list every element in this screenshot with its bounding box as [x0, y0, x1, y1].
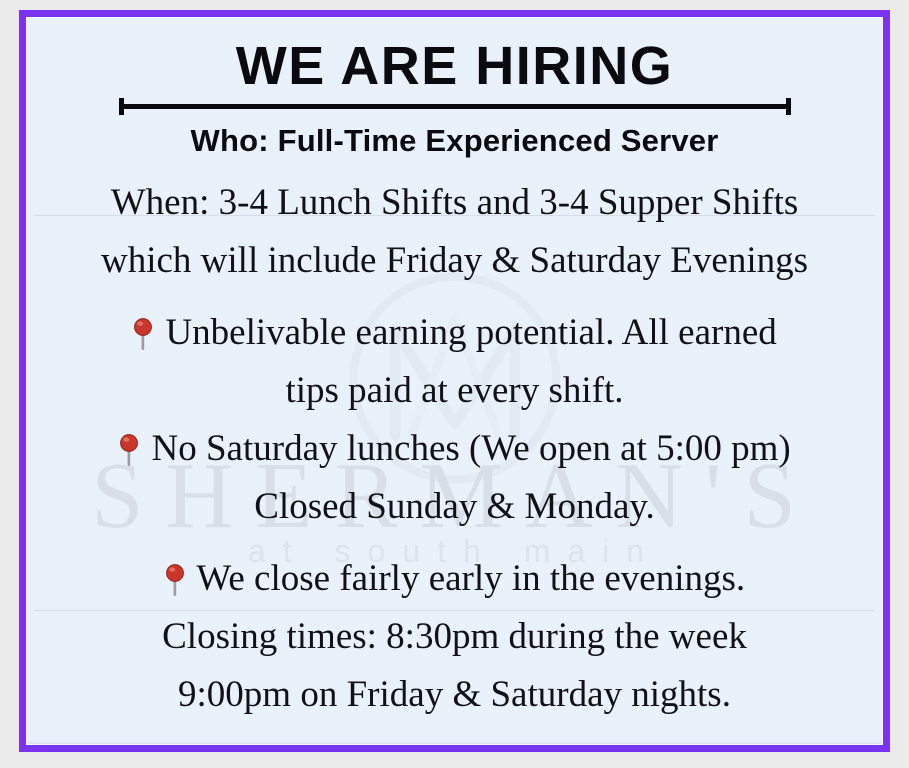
rule-bar [119, 104, 791, 109]
poster-line: 9:00pm on Friday & Saturday nights. [26, 666, 883, 724]
line-text: No Saturday lunches (We open at 5:00 pm) [152, 428, 791, 469]
poster-line: Closed Sunday & Monday. [26, 478, 883, 536]
line-text: tips paid at every shift. [285, 370, 623, 411]
poster-canvas: SHERMAN'S at south main WE ARE HIRING Wh… [26, 17, 883, 745]
pushpin-icon [132, 317, 154, 351]
poster-content: WE ARE HIRING Who: Full-Time Experienced… [26, 17, 883, 724]
poster-line: When: 3-4 Lunch Shifts and 3-4 Supper Sh… [26, 174, 883, 232]
poster-line: Unbelivable earning potential. All earne… [26, 304, 883, 362]
pushpin-icon [164, 563, 186, 597]
pushpin-icon [118, 433, 140, 467]
page-title: WE ARE HIRING [26, 17, 883, 94]
poster-line: which will include Friday & Saturday Eve… [26, 232, 883, 290]
line-text: Closed Sunday & Monday. [254, 486, 654, 527]
line-text: 9:00pm on Friday & Saturday nights. [178, 674, 731, 715]
poster-line: We close fairly early in the evenings. [26, 550, 883, 608]
line-text: When: 3-4 Lunch Shifts and 3-4 Supper Sh… [111, 182, 799, 223]
poster-line: tips paid at every shift. [26, 362, 883, 420]
line-text: Closing times: 8:30pm during the week [162, 616, 747, 657]
hiring-poster: SHERMAN'S at south main WE ARE HIRING Wh… [19, 10, 890, 752]
poster-line: No Saturday lunches (We open at 5:00 pm) [26, 420, 883, 478]
line-text: Unbelivable earning potential. All earne… [165, 312, 776, 353]
rule-cap-right [786, 98, 791, 115]
title-rule [119, 98, 791, 114]
poster-body: When: 3-4 Lunch Shifts and 3-4 Supper Sh… [26, 174, 883, 724]
subtitle: Who: Full-Time Experienced Server [26, 124, 883, 158]
poster-line: Closing times: 8:30pm during the week [26, 608, 883, 666]
line-text: which will include Friday & Saturday Eve… [101, 240, 808, 281]
line-text: We close fairly early in the evenings. [196, 558, 745, 599]
